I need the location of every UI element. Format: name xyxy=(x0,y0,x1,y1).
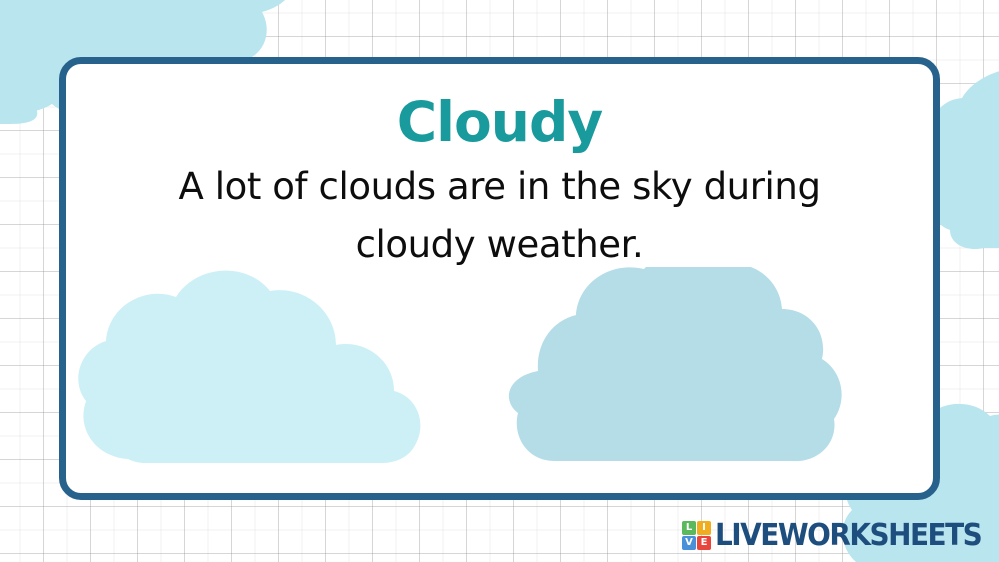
page-title: Cloudy xyxy=(66,94,933,152)
logo-tile-e: E xyxy=(697,536,711,550)
text-content: Cloudy A lot of clouds are in the sky du… xyxy=(66,94,933,275)
liveworksheets-logo[interactable]: L I V E LIVEWORKSHEETS xyxy=(682,518,999,553)
logo-tile-i: I xyxy=(697,521,711,535)
worksheet-slide: Cloudy A lot of clouds are in the sky du… xyxy=(0,0,999,562)
logo-tile-l: L xyxy=(682,521,696,535)
body-line-1: A lot of clouds are in the sky during xyxy=(66,158,933,216)
cloud-shape-front xyxy=(78,271,420,463)
body-line-2: cloudy weather. xyxy=(66,216,933,274)
liveworksheets-logo-icon: L I V E xyxy=(682,521,711,550)
liveworksheets-wordmark: LIVEWORKSHEETS xyxy=(715,518,981,553)
cloud-illustration xyxy=(66,267,933,497)
cloud-top-left-bump xyxy=(0,96,37,124)
content-card: Cloudy A lot of clouds are in the sky du… xyxy=(59,57,940,500)
logo-tile-v: V xyxy=(682,536,696,550)
cloud-shape-back xyxy=(509,267,842,461)
